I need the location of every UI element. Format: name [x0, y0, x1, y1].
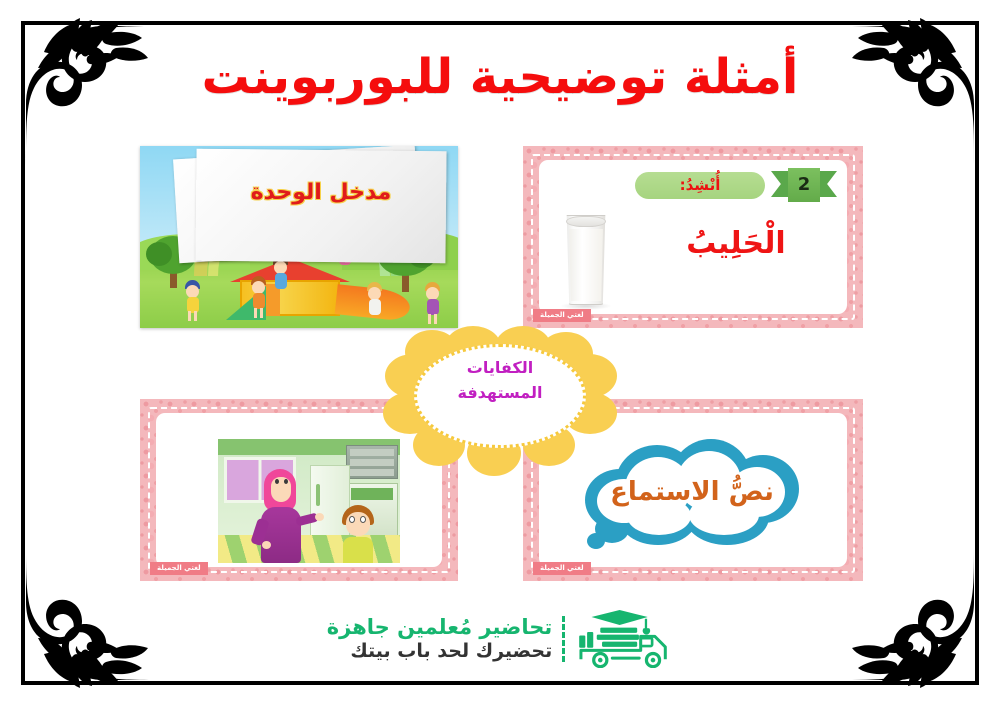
flower-label-line2: المستهدفة: [419, 381, 581, 406]
brand-name: تحاضير مُعلمين جاهزة: [327, 615, 552, 640]
delivery-truck-with-books-and-graduation-cap-icon: [575, 610, 673, 668]
slide-footer-tag: لغتي الجميلة: [533, 562, 591, 575]
glass-of-milk-icon: [565, 215, 607, 305]
slide-inner-card: أُنْشِدُ: 2 الْحَلِيبُ: [539, 160, 847, 314]
child-figure: [250, 276, 268, 312]
slide-footer-tag: لغتي الجميلة: [533, 309, 591, 322]
boy-figure: [338, 505, 378, 563]
cloud-speech-bubble-icon: نصُّ الاستماع: [585, 439, 799, 549]
center-flower-badge[interactable]: الكفايات المستهدفة: [383, 326, 617, 486]
brand-text: تحاضير مُعلمين جاهزة تحضيرك لحد باب بيتك: [327, 615, 552, 662]
slide-footer-tag: لغتي الجميلة: [150, 562, 208, 575]
slide-heading-listening-text: نصُّ الاستماع: [585, 477, 799, 507]
prompt-pill: أُنْشِدُ:: [635, 172, 765, 199]
vocabulary-word-milk: الْحَلِيبُ: [651, 226, 821, 261]
mother-figure: [254, 469, 310, 563]
paper-sheet: [195, 149, 446, 264]
child-figure: [366, 282, 384, 316]
brand-divider: [562, 616, 565, 662]
slide-heading-unit-entry: مدخل الوحدة: [196, 180, 446, 205]
brand-tagline: تحضيرك لحد باب بيتك: [327, 640, 552, 662]
lesson-number-badge: 2: [771, 168, 837, 202]
flower-label-line1: الكفايات: [419, 356, 581, 381]
child-figure: [424, 282, 442, 318]
mother-and-boy-kitchen-illustration: [218, 439, 400, 563]
lesson-number-label: 2: [788, 168, 820, 202]
slide-thumbnail-unit-entry[interactable]: مدخل الوحدة: [140, 146, 458, 328]
slide-thumbnail-milk[interactable]: أُنْشِدُ: 2 الْحَلِيبُ لغتي الجميلة: [523, 146, 863, 328]
flower-label: الكفايات المستهدفة: [419, 356, 581, 406]
page-title-wrapper: أمثلة توضيحية للبوربوينت: [0, 52, 1000, 102]
child-figure: [184, 280, 202, 314]
page-title: أمثلة توضيحية للبوربوينت: [202, 52, 799, 102]
brand-footer: تحاضير مُعلمين جاهزة تحضيرك لحد باب بيتك: [0, 610, 1000, 668]
